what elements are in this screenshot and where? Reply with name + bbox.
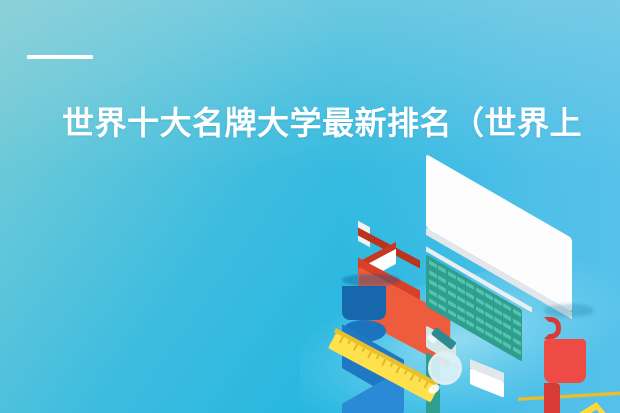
keyboard-key bbox=[513, 337, 521, 346]
keyboard-key bbox=[466, 301, 474, 310]
education-desk-illustration bbox=[330, 196, 620, 413]
triangle-ruler-tick bbox=[605, 380, 608, 385]
keyboard-key bbox=[503, 313, 511, 322]
ruler-tick bbox=[395, 366, 400, 373]
triangle-ruler-tick bbox=[608, 386, 611, 391]
keyboard-key bbox=[438, 265, 446, 274]
mug-shadow bbox=[544, 304, 594, 317]
keyboard-key bbox=[429, 260, 437, 269]
mug-body bbox=[544, 339, 586, 383]
eraser-icon bbox=[470, 366, 516, 394]
keyboard-key bbox=[494, 317, 502, 326]
ruler-tick bbox=[390, 363, 393, 367]
ruler-tick bbox=[404, 370, 407, 374]
ruler-tick bbox=[410, 374, 415, 381]
mug-handle bbox=[544, 317, 561, 339]
keyboard-key bbox=[494, 326, 502, 335]
ruler-tick bbox=[367, 351, 372, 358]
keyboard-key bbox=[466, 320, 474, 329]
keyboard-key bbox=[503, 303, 511, 312]
cap-shadow bbox=[342, 274, 400, 286]
keyboard-key bbox=[513, 308, 521, 317]
ruler-tick bbox=[353, 344, 358, 351]
decorative-rule bbox=[27, 55, 93, 59]
keyboard-key bbox=[513, 318, 521, 327]
keyboard-key bbox=[466, 310, 474, 319]
keyboard-key bbox=[485, 292, 493, 301]
ruler-tick bbox=[381, 359, 386, 366]
keyboard-key bbox=[466, 291, 474, 300]
triangle-ruler-tick bbox=[613, 400, 616, 405]
keyboard-key bbox=[485, 302, 493, 311]
keyboard-key bbox=[494, 307, 502, 316]
ruler-tick bbox=[376, 355, 379, 359]
cap-crown bbox=[342, 286, 386, 320]
keyboard-key bbox=[503, 322, 511, 331]
keyboard-key bbox=[494, 298, 502, 307]
keyboard-key bbox=[503, 332, 511, 341]
keyboard-key bbox=[476, 306, 484, 315]
coffee-mug-icon bbox=[544, 304, 610, 376]
mug-body-shade bbox=[544, 383, 560, 413]
page-title: 世界十大名牌大学最新排名（世界上 bbox=[62, 101, 620, 145]
triangle-ruler-tick bbox=[615, 406, 618, 411]
keyboard-key bbox=[476, 316, 484, 325]
keyboard-key bbox=[476, 296, 484, 305]
triangle-ruler-face bbox=[518, 402, 620, 413]
ruler-tick bbox=[339, 336, 344, 343]
ruler-tick bbox=[361, 348, 364, 352]
keyboard-key bbox=[485, 311, 493, 320]
article-cover-card: 世界十大名牌大学最新排名（世界上 bbox=[0, 0, 620, 413]
keyboard-key bbox=[494, 336, 502, 345]
keyboard-key bbox=[503, 341, 511, 350]
ruler-tick bbox=[418, 378, 421, 382]
magnifier-lens bbox=[428, 351, 462, 385]
keyboard-key bbox=[466, 281, 474, 290]
keyboard-key bbox=[476, 287, 484, 296]
keyboard-key bbox=[485, 321, 493, 330]
keyboard-key bbox=[476, 325, 484, 334]
ruler-tick bbox=[347, 340, 350, 344]
keyboard-key bbox=[513, 328, 521, 337]
